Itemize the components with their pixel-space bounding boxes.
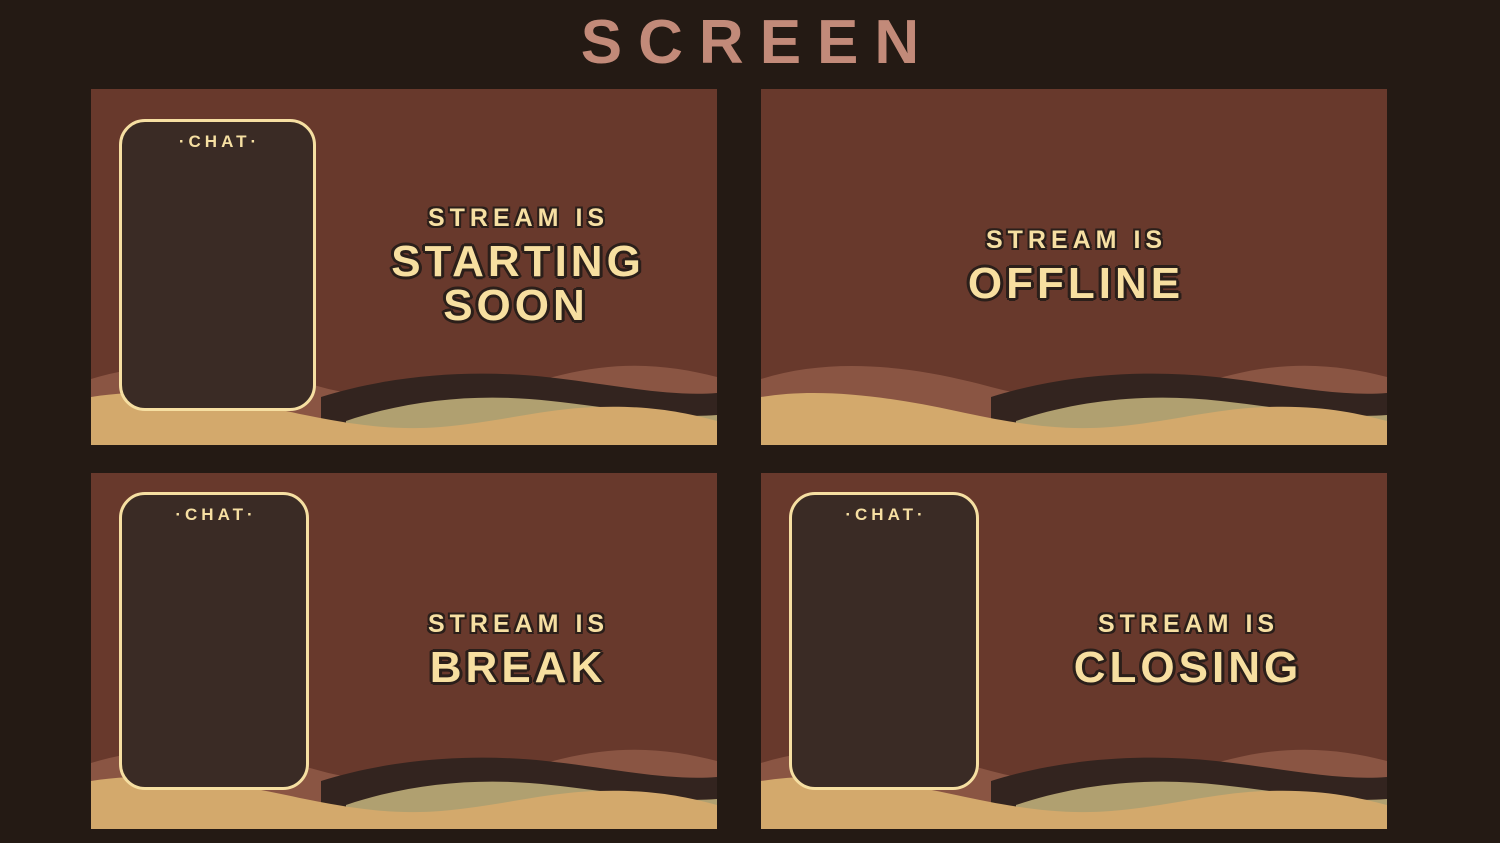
landscape-artwork [761, 335, 1387, 445]
status-text-block-offline: STREAM IS OFFLINE [761, 228, 1387, 306]
chat-label: ·CHAT· [122, 505, 306, 525]
screen-panel-grid: ·CHAT· STREAM IS STARTING SOON STREAM IS… [91, 89, 1388, 829]
status-eyebrow: STREAM IS [761, 228, 1387, 253]
status-eyebrow: STREAM IS [323, 206, 709, 231]
status-text-block-closing: STREAM IS CLOSING [993, 612, 1379, 690]
status-main-label: OFFLINE [761, 262, 1387, 306]
chat-box-break[interactable]: ·CHAT· [119, 492, 309, 790]
status-main-label: BREAK [323, 646, 709, 690]
status-main-label: STARTING SOON [323, 240, 709, 328]
screen-panel-break[interactable]: ·CHAT· STREAM IS BREAK [91, 473, 717, 829]
status-text-block-starting-soon: STREAM IS STARTING SOON [323, 206, 709, 328]
page-title: SCREEN [0, 0, 1500, 85]
screen-panel-closing[interactable]: ·CHAT· STREAM IS CLOSING [761, 473, 1387, 829]
status-main-label: CLOSING [993, 646, 1379, 690]
chat-label: ·CHAT· [792, 505, 976, 525]
screen-panel-starting-soon[interactable]: ·CHAT· STREAM IS STARTING SOON [91, 89, 717, 445]
status-eyebrow: STREAM IS [993, 612, 1379, 637]
status-text-block-break: STREAM IS BREAK [323, 612, 709, 690]
chat-box-closing[interactable]: ·CHAT· [789, 492, 979, 790]
screen-panel-offline[interactable]: STREAM IS OFFLINE [761, 89, 1387, 445]
status-eyebrow: STREAM IS [323, 612, 709, 637]
chat-box-starting-soon[interactable]: ·CHAT· [119, 119, 316, 411]
chat-label: ·CHAT· [122, 132, 313, 152]
